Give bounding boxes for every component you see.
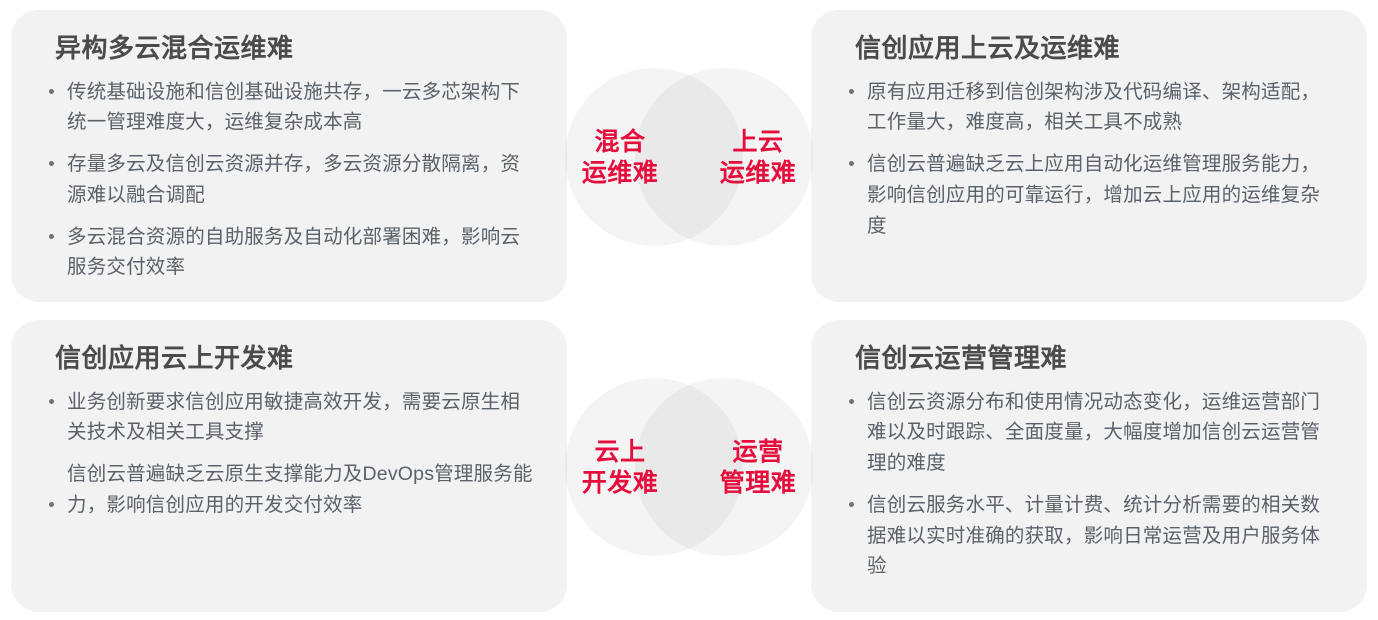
list-item: 信创云服务水平、计量计费、统计分析需要的相关数据难以实时准确的获取，影响日常运营… xyxy=(845,490,1337,582)
bullet-list: 业务创新要求信创应用敏捷高效开发，需要云原生相关技术及相关工具支撑 信创云普遍缺… xyxy=(45,387,537,521)
list-item: 信创云普遍缺乏云上应用自动化运维管理服务能力，影响信创应用的可靠运行，增加云上应… xyxy=(845,149,1337,241)
list-item: 业务创新要求信创应用敏捷高效开发，需要云原生相关技术及相关工具支撑 xyxy=(45,387,537,449)
venn-diagram-top: 混合 运维难 上云 运维难 xyxy=(565,68,813,248)
card-app-migration-ops: 信创应用上云及运维难 原有应用迁移到信创架构涉及代码编译、架构适配，工作量大，难… xyxy=(811,10,1367,302)
venn-diagram-bottom: 云上 开发难 运营 管理难 xyxy=(565,378,813,558)
card-heterogeneous-multicloud-ops: 异构多云混合运维难 传统基础设施和信创基础设施共存，一云多芯架构下统一管理难度大… xyxy=(11,10,567,302)
list-item-text: 原有应用迁移到信创架构涉及代码编译、架构适配，工作量大，难度高，相关工具不成熟 xyxy=(867,81,1320,134)
list-item-text: 业务创新要求信创应用敏捷高效开发，需要云原生相关技术及相关工具支撑 xyxy=(67,391,520,444)
bullet-dot-icon xyxy=(49,502,54,507)
list-item-text: 传统基础设施和信创基础设施共存，一云多芯架构下统一管理难度大，运维复杂成本高 xyxy=(67,81,520,134)
challenges-board: 异构多云混合运维难 传统基础设施和信创基础设施共存，一云多芯架构下统一管理难度大… xyxy=(0,0,1378,620)
venn-label-cloud-development: 云上 开发难 xyxy=(560,437,680,499)
bullet-dot-icon xyxy=(849,399,854,404)
bullet-dot-icon xyxy=(849,89,854,94)
list-item: 信创云普遍缺乏云原生支撑能力及DevOps管理服务能力，影响信创应用的开发交付效… xyxy=(45,459,537,521)
venn-label-hybrid-ops: 混合 运维难 xyxy=(560,127,680,189)
bullet-dot-icon xyxy=(49,89,54,94)
card-cloud-operations-management: 信创云运营管理难 信创云资源分布和使用情况动态变化，运维运营部门难以及时跟踪、全… xyxy=(811,320,1367,612)
list-item-text: 存量多云及信创云资源并存，多云资源分散隔离，资源难以融合调配 xyxy=(67,153,520,206)
venn-label-migration-ops: 上云 运维难 xyxy=(698,127,818,189)
bullet-list: 信创云资源分布和使用情况动态变化，运维运营部门难以及时跟踪、全面度量，大幅度增加… xyxy=(845,387,1337,583)
card-cloud-development: 信创应用云上开发难 业务创新要求信创应用敏捷高效开发，需要云原生相关技术及相关工… xyxy=(11,320,567,612)
list-item-text: 信创云资源分布和使用情况动态变化，运维运营部门难以及时跟踪、全面度量，大幅度增加… xyxy=(867,391,1320,475)
list-item-text: 信创云服务水平、计量计费、统计分析需要的相关数据难以实时准确的获取，影响日常运营… xyxy=(867,494,1320,578)
card-title: 信创云运营管理难 xyxy=(855,342,1337,375)
list-item-text: 信创云普遍缺乏云上应用自动化运维管理服务能力，影响信创应用的可靠运行，增加云上应… xyxy=(867,153,1320,237)
list-item: 信创云资源分布和使用情况动态变化，运维运营部门难以及时跟踪、全面度量，大幅度增加… xyxy=(845,387,1337,479)
bullet-dot-icon xyxy=(49,399,54,404)
bullet-dot-icon xyxy=(849,502,854,507)
bullet-dot-icon xyxy=(49,161,54,166)
card-title: 信创应用上云及运维难 xyxy=(855,32,1337,65)
bullet-list: 原有应用迁移到信创架构涉及代码编译、架构适配，工作量大，难度高，相关工具不成熟 … xyxy=(845,77,1337,242)
bullet-dot-icon xyxy=(49,234,54,239)
list-item: 原有应用迁移到信创架构涉及代码编译、架构适配，工作量大，难度高，相关工具不成熟 xyxy=(845,77,1337,139)
venn-label-operations-management: 运营 管理难 xyxy=(698,437,818,499)
card-title: 异构多云混合运维难 xyxy=(55,32,537,65)
bullet-list: 传统基础设施和信创基础设施共存，一云多芯架构下统一管理难度大，运维复杂成本高 存… xyxy=(45,77,537,284)
bullet-dot-icon xyxy=(849,161,854,166)
list-item-text: 信创云普遍缺乏云原生支撑能力及DevOps管理服务能力，影响信创应用的开发交付效… xyxy=(67,463,533,516)
list-item-text: 多云混合资源的自助服务及自动化部署困难，影响云服务交付效率 xyxy=(67,226,520,279)
list-item: 多云混合资源的自助服务及自动化部署困难，影响云服务交付效率 xyxy=(45,222,537,284)
list-item: 存量多云及信创云资源并存，多云资源分散隔离，资源难以融合调配 xyxy=(45,149,537,211)
card-title: 信创应用云上开发难 xyxy=(55,342,537,375)
list-item: 传统基础设施和信创基础设施共存，一云多芯架构下统一管理难度大，运维复杂成本高 xyxy=(45,77,537,139)
